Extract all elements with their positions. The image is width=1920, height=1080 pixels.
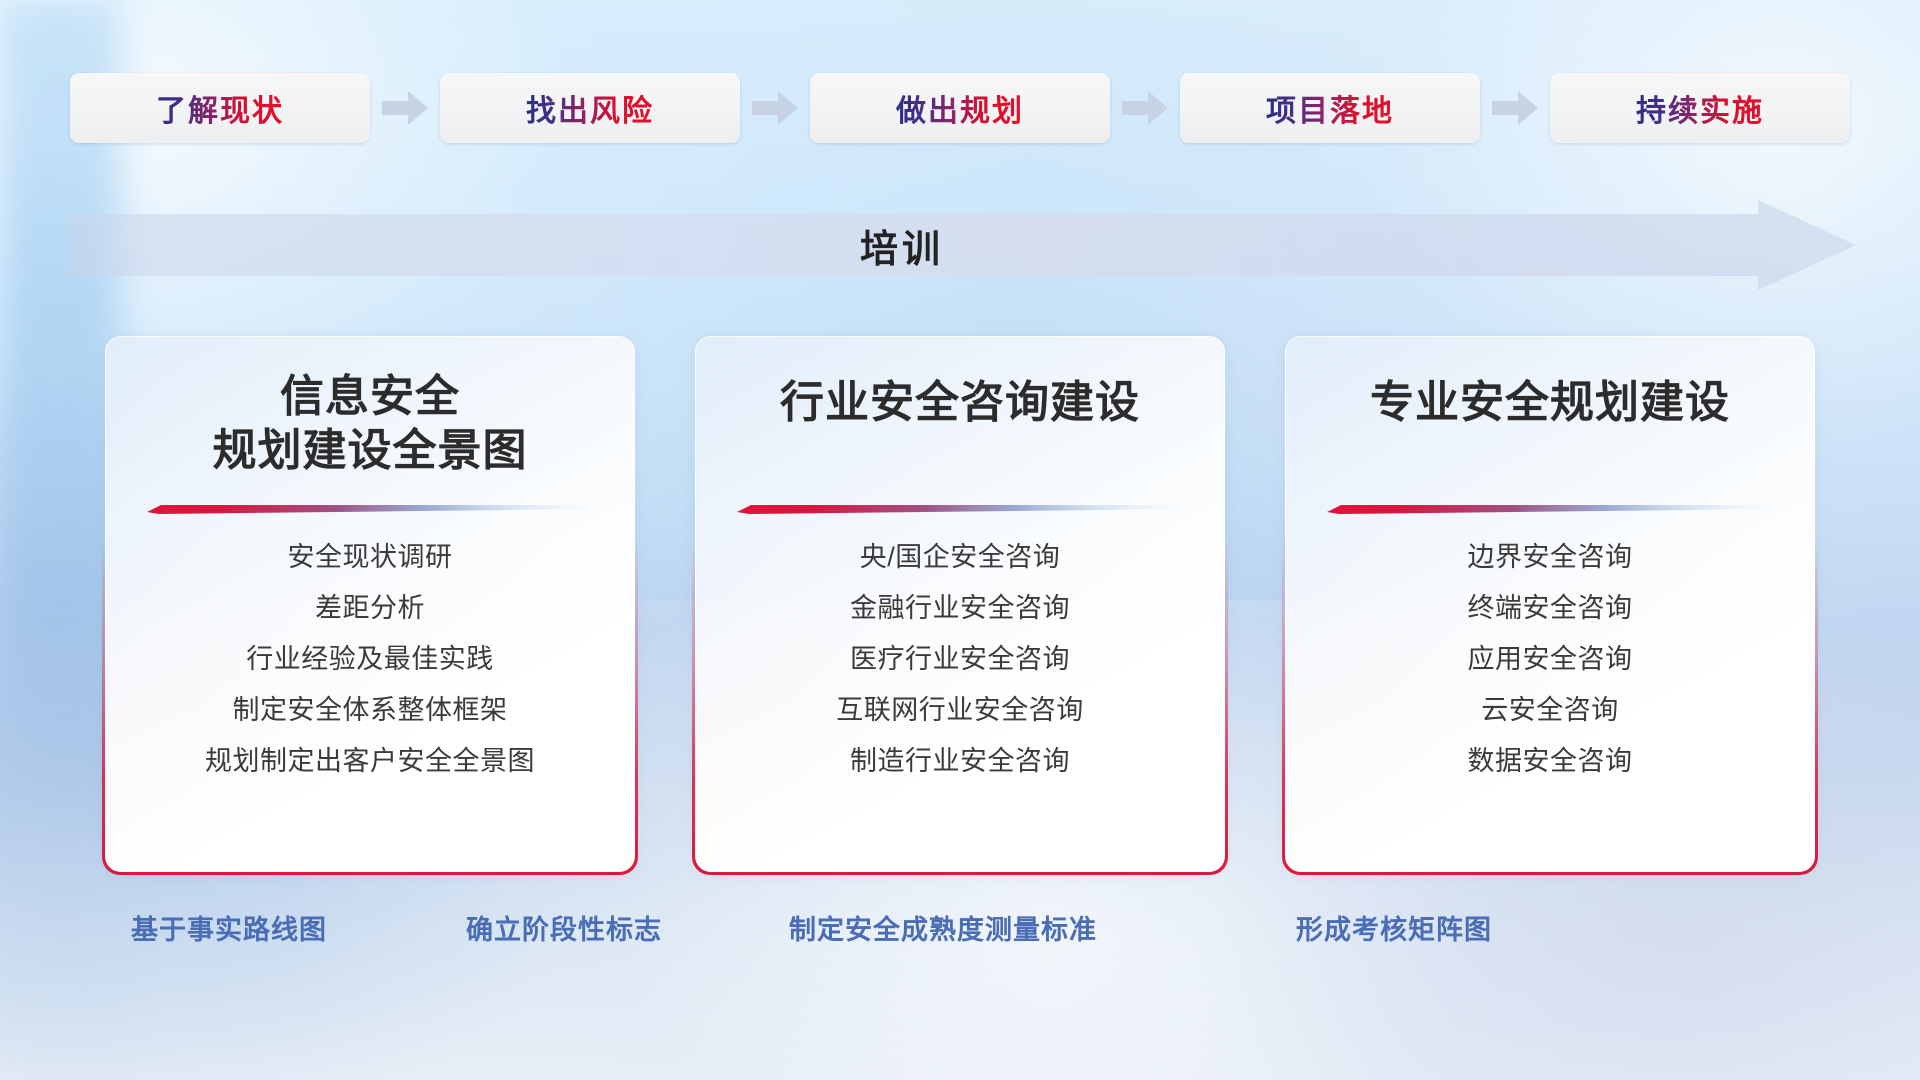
list-item: 云安全咨询 (1285, 697, 1815, 724)
card-2-title: 行业安全咨询建设 (695, 376, 1225, 430)
list-item: 医疗行业安全咨询 (695, 646, 1225, 673)
list-item: 数据安全咨询 (1285, 748, 1815, 775)
step-box-1-label: 了解现状 (156, 86, 284, 130)
card-1-list-items: 安全现状调研 差距分析 行业经验及最佳实践 制定安全体系整体框架 规划制定出客户… (105, 544, 635, 775)
step-box-5-label: 持续实施 (1636, 86, 1764, 130)
step-box-4[interactable]: 项目落地 (1180, 73, 1480, 143)
card-2[interactable]: 行业安全咨询建设 (695, 336, 1225, 872)
list-item: 终端安全咨询 (1285, 595, 1815, 622)
card-2-surface: 行业安全咨询建设 (695, 336, 1225, 872)
card-2-list-items: 央/国企安全咨询 金融行业安全咨询 医疗行业安全咨询 互联网行业安全咨询 制造行… (695, 544, 1225, 775)
footnote-row: 基于事实路线图 确立阶段性标志 制定安全成熟度测量标准 形成考核矩阵图 (0, 908, 1920, 968)
list-item: 差距分析 (105, 595, 635, 622)
card-2-divider (737, 504, 1189, 514)
training-banner: 培训 (68, 200, 1856, 290)
card-2-list: 央/国企安全咨询 金融行业安全咨询 医疗行业安全咨询 互联网行业安全咨询 制造行… (695, 544, 1225, 799)
list-item: 边界安全咨询 (1285, 544, 1815, 571)
list-item: 制造行业安全咨询 (695, 748, 1225, 775)
card-1-title-line-1: 信息安全 (105, 370, 635, 424)
list-item: 央/国企安全咨询 (695, 544, 1225, 571)
slide-canvas: 了解现状 找出风险 做出规划 项目落地 持续实施 (0, 0, 1920, 1080)
card-1-surface: 信息安全 规划建设全景图 (105, 336, 635, 872)
card-3-title-line-1: 专业安全规划建设 (1285, 376, 1815, 430)
card-3-title: 专业安全规划建设 (1285, 376, 1815, 430)
footnote-1: 基于事实路线图 (131, 908, 327, 947)
list-item: 安全现状调研 (105, 544, 635, 571)
card-1-title: 信息安全 规划建设全景图 (105, 370, 635, 477)
card-1[interactable]: 信息安全 规划建设全景图 (105, 336, 635, 872)
training-banner-label-wrap: 培训 (68, 200, 1856, 290)
card-3-list: 边界安全咨询 终端安全咨询 应用安全咨询 云安全咨询 数据安全咨询 (1285, 544, 1815, 799)
step-box-5[interactable]: 持续实施 (1550, 73, 1850, 143)
step-box-4-label: 项目落地 (1266, 86, 1394, 130)
footnote-2: 确立阶段性标志 (466, 908, 662, 947)
card-1-title-line-2: 规划建设全景图 (105, 424, 635, 478)
arrow-right-icon (752, 91, 798, 125)
arrow-right-icon (1492, 91, 1538, 125)
list-item: 金融行业安全咨询 (695, 595, 1225, 622)
step-box-1[interactable]: 了解现状 (70, 73, 370, 143)
step-box-2[interactable]: 找出风险 (440, 73, 740, 143)
footnote-4: 形成考核矩阵图 (1296, 908, 1492, 947)
card-1-divider (147, 504, 599, 514)
card-row: 信息安全 规划建设全景图 (0, 336, 1920, 872)
card-3-divider (1327, 504, 1779, 514)
list-item: 互联网行业安全咨询 (695, 697, 1225, 724)
arrow-right-icon (382, 91, 428, 125)
step-box-2-label: 找出风险 (526, 86, 654, 130)
list-item: 规划制定出客户安全全景图 (105, 748, 635, 775)
card-3-surface: 专业安全规划建设 (1285, 336, 1815, 872)
card-3-list-items: 边界安全咨询 终端安全咨询 应用安全咨询 云安全咨询 数据安全咨询 (1285, 544, 1815, 775)
footnote-3: 制定安全成熟度测量标准 (789, 908, 1097, 947)
arrow-right-icon (1122, 91, 1168, 125)
list-item: 制定安全体系整体框架 (105, 697, 635, 724)
list-item: 应用安全咨询 (1285, 646, 1815, 673)
step-box-3[interactable]: 做出规划 (810, 73, 1110, 143)
step-box-3-label: 做出规划 (896, 86, 1024, 130)
list-item: 行业经验及最佳实践 (105, 646, 635, 673)
training-banner-label: 培训 (860, 218, 944, 273)
process-step-row: 了解现状 找出风险 做出规划 项目落地 持续实施 (0, 72, 1920, 144)
card-3[interactable]: 专业安全规划建设 (1285, 336, 1815, 872)
card-2-title-line-1: 行业安全咨询建设 (695, 376, 1225, 430)
card-1-list: 安全现状调研 差距分析 行业经验及最佳实践 制定安全体系整体框架 规划制定出客户… (105, 544, 635, 799)
